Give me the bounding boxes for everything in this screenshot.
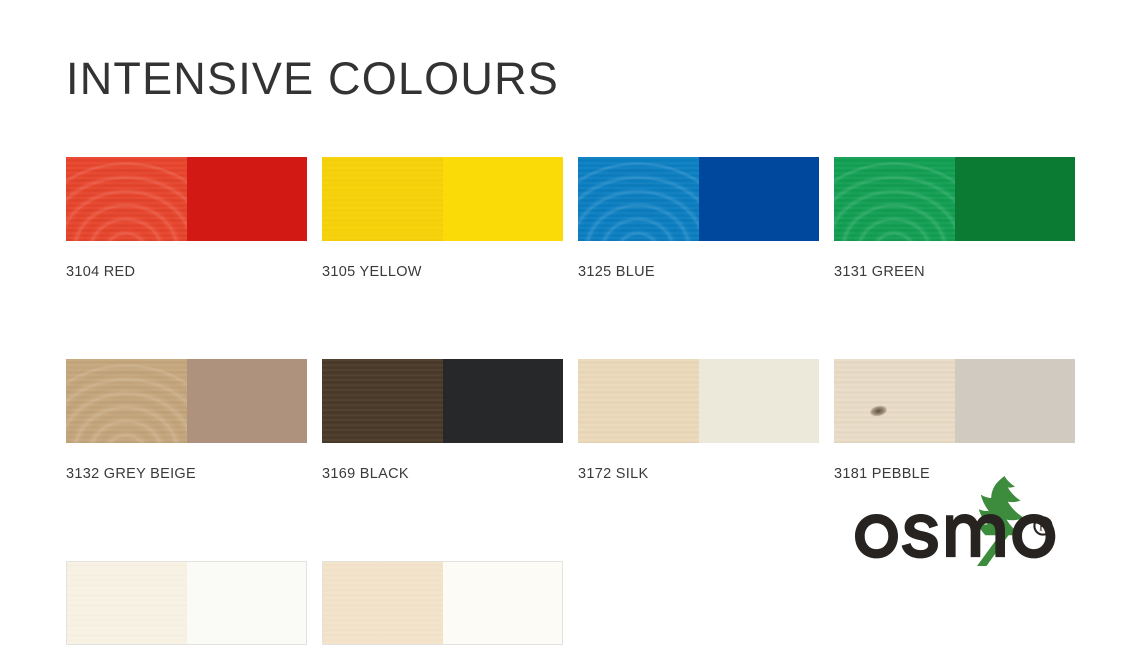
swatch-wood-half <box>323 562 443 644</box>
swatch-cell-3104[interactable]: 3104 RED <box>66 157 307 281</box>
swatch-wood-half <box>578 359 699 443</box>
colour-swatch-3132[interactable] <box>66 359 307 443</box>
swatch-cell-3172[interactable]: 3172 SILK <box>578 359 819 483</box>
colour-swatch-3105[interactable] <box>322 157 563 241</box>
colour-swatch-3186[interactable] <box>66 561 307 645</box>
swatch-solid-half <box>187 157 308 241</box>
wood-grain-lines <box>322 157 443 241</box>
wood-growth-rings <box>834 162 955 241</box>
colour-swatch-3131[interactable] <box>834 157 1075 241</box>
swatch-wood-half <box>66 157 187 241</box>
swatch-solid-half <box>955 359 1076 443</box>
swatch-grid: 3104 RED3105 YELLOW3125 BLUE3131 GREEN31… <box>66 157 1074 660</box>
swatch-wood-half <box>66 359 187 443</box>
swatch-cell-3131[interactable]: 3131 GREEN <box>834 157 1075 281</box>
osmo-wordmark <box>855 514 1055 558</box>
swatch-wood-half <box>834 359 955 443</box>
wood-growth-rings <box>578 162 699 241</box>
swatch-cell-3132[interactable]: 3132 GREY BEIGE <box>66 359 307 483</box>
osmo-logo: R <box>854 470 1074 566</box>
swatch-cell-3186[interactable]: 3186 WHITE <box>66 561 307 660</box>
colour-swatch-3172[interactable] <box>578 359 819 443</box>
swatch-solid-half <box>187 359 308 443</box>
swatch-wood-half <box>322 157 443 241</box>
colour-swatch-3125[interactable] <box>578 157 819 241</box>
swatch-label: 3132 GREY BEIGE <box>66 465 307 483</box>
wood-grain-lines <box>578 359 699 443</box>
swatch-solid-half <box>187 562 307 644</box>
swatch-cell-3181[interactable]: 3181 PEBBLE <box>834 359 1075 483</box>
colour-swatch-3104[interactable] <box>66 157 307 241</box>
wood-grain-lines <box>323 562 443 644</box>
swatch-solid-half <box>699 157 820 241</box>
swatch-cell-3125[interactable]: 3125 BLUE <box>578 157 819 281</box>
swatch-wood-half <box>834 157 955 241</box>
swatch-cell-3169[interactable]: 3169 BLACK <box>322 359 563 483</box>
colour-chart-page: INTENSIVE COLOURS 3104 RED3105 YELLOW312… <box>0 0 1140 660</box>
wood-growth-rings <box>66 364 187 443</box>
swatch-solid-half <box>443 562 563 644</box>
wood-growth-rings <box>66 162 187 241</box>
wood-grain-lines <box>322 359 443 443</box>
swatch-label: 3104 RED <box>66 263 307 281</box>
swatch-wood-half <box>67 562 187 644</box>
swatch-solid-half <box>955 157 1076 241</box>
swatch-label: 3131 GREEN <box>834 263 1075 281</box>
swatch-solid-half <box>443 157 564 241</box>
swatch-label: 3172 SILK <box>578 465 819 483</box>
colour-swatch-3188[interactable] <box>322 561 563 645</box>
swatch-row: 3104 RED3105 YELLOW3125 BLUE3131 GREEN <box>66 157 1074 281</box>
page-title: INTENSIVE COLOURS <box>66 52 559 106</box>
swatch-label: 3169 BLACK <box>322 465 563 483</box>
wood-grain-lines <box>834 359 955 443</box>
colour-swatch-3169[interactable] <box>322 359 563 443</box>
svg-text:R: R <box>1039 519 1047 533</box>
swatch-label: 3125 BLUE <box>578 263 819 281</box>
swatch-solid-half <box>443 359 564 443</box>
swatch-cell-3188[interactable]: 3188 SNOW <box>322 561 563 660</box>
swatch-row: 3132 GREY BEIGE3169 BLACK3172 SILK3181 P… <box>66 359 1074 483</box>
swatch-solid-half <box>699 359 820 443</box>
swatch-wood-half <box>578 157 699 241</box>
swatch-wood-half <box>322 359 443 443</box>
wood-grain-lines <box>67 562 187 644</box>
colour-swatch-3181[interactable] <box>834 359 1075 443</box>
swatch-cell-3105[interactable]: 3105 YELLOW <box>322 157 563 281</box>
swatch-label: 3105 YELLOW <box>322 263 563 281</box>
swatch-row: 3186 WHITE3188 SNOW <box>66 561 1074 660</box>
